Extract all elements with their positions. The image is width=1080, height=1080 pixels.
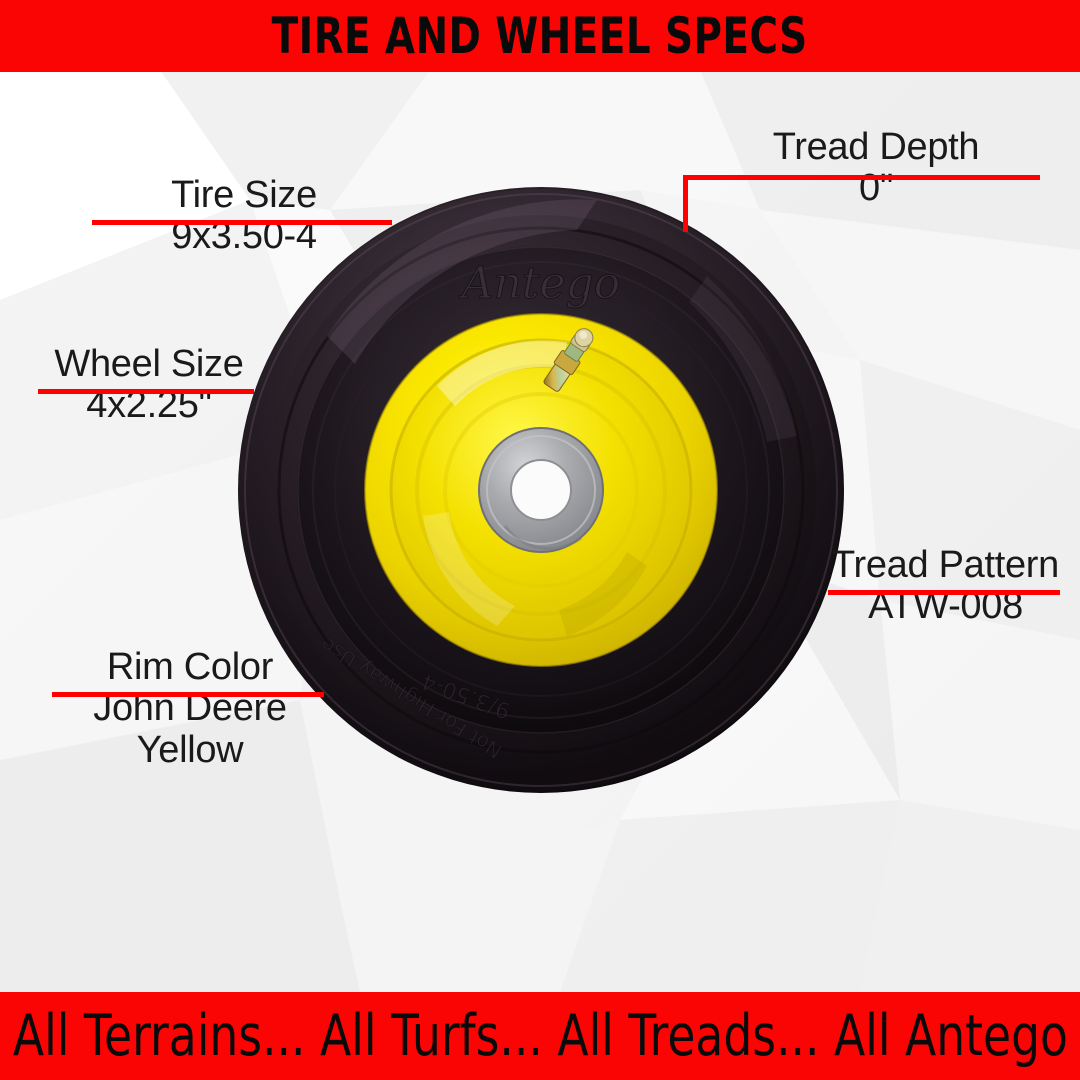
footer-banner: All Terrains... All Turfs... All Treads.… [0, 992, 1080, 1080]
leader-line-tread-depth-horizontal [683, 175, 1040, 180]
callout-rim-color-title: Rim Color [40, 648, 340, 688]
callout-wheel-size-title: Wheel Size [24, 345, 274, 385]
header-banner: TIRE AND WHEEL SPECS [0, 0, 1080, 72]
leader-line-tread-pattern [828, 590, 1060, 595]
leader-line-tread-depth-vertical [683, 175, 688, 232]
callout-rim-color: Rim Color John Deere Yellow [40, 648, 340, 771]
callout-tread-pattern-title: Tread Pattern [818, 546, 1073, 586]
callout-tire-size: Tire Size 9x3.50-4 [84, 176, 404, 258]
leader-line-wheel-size [38, 389, 254, 394]
sidewall-brand-emboss: Antego [458, 258, 621, 309]
footer-tagline: All Terrains... All Turfs... All Treads.… [12, 1008, 1067, 1065]
callout-tread-depth: Tread Depth 0" [686, 128, 1066, 210]
page-title: TIRE AND WHEEL SPECS [272, 11, 808, 61]
leader-line-rim-color [52, 692, 324, 697]
callout-wheel-size: Wheel Size 4x2.25" [24, 345, 274, 427]
callout-tread-depth-title: Tread Depth [686, 128, 1066, 168]
callout-tread-pattern: Tread Pattern ATW-008 [818, 546, 1073, 628]
svg-text:Antego: Antego [458, 258, 621, 309]
infographic-page: TIRE AND WHEEL SPECS [0, 0, 1080, 1080]
callout-tire-size-title: Tire Size [84, 176, 404, 216]
leader-line-tire-size [92, 220, 392, 225]
callout-rim-color-value: John Deere Yellow [40, 688, 340, 772]
